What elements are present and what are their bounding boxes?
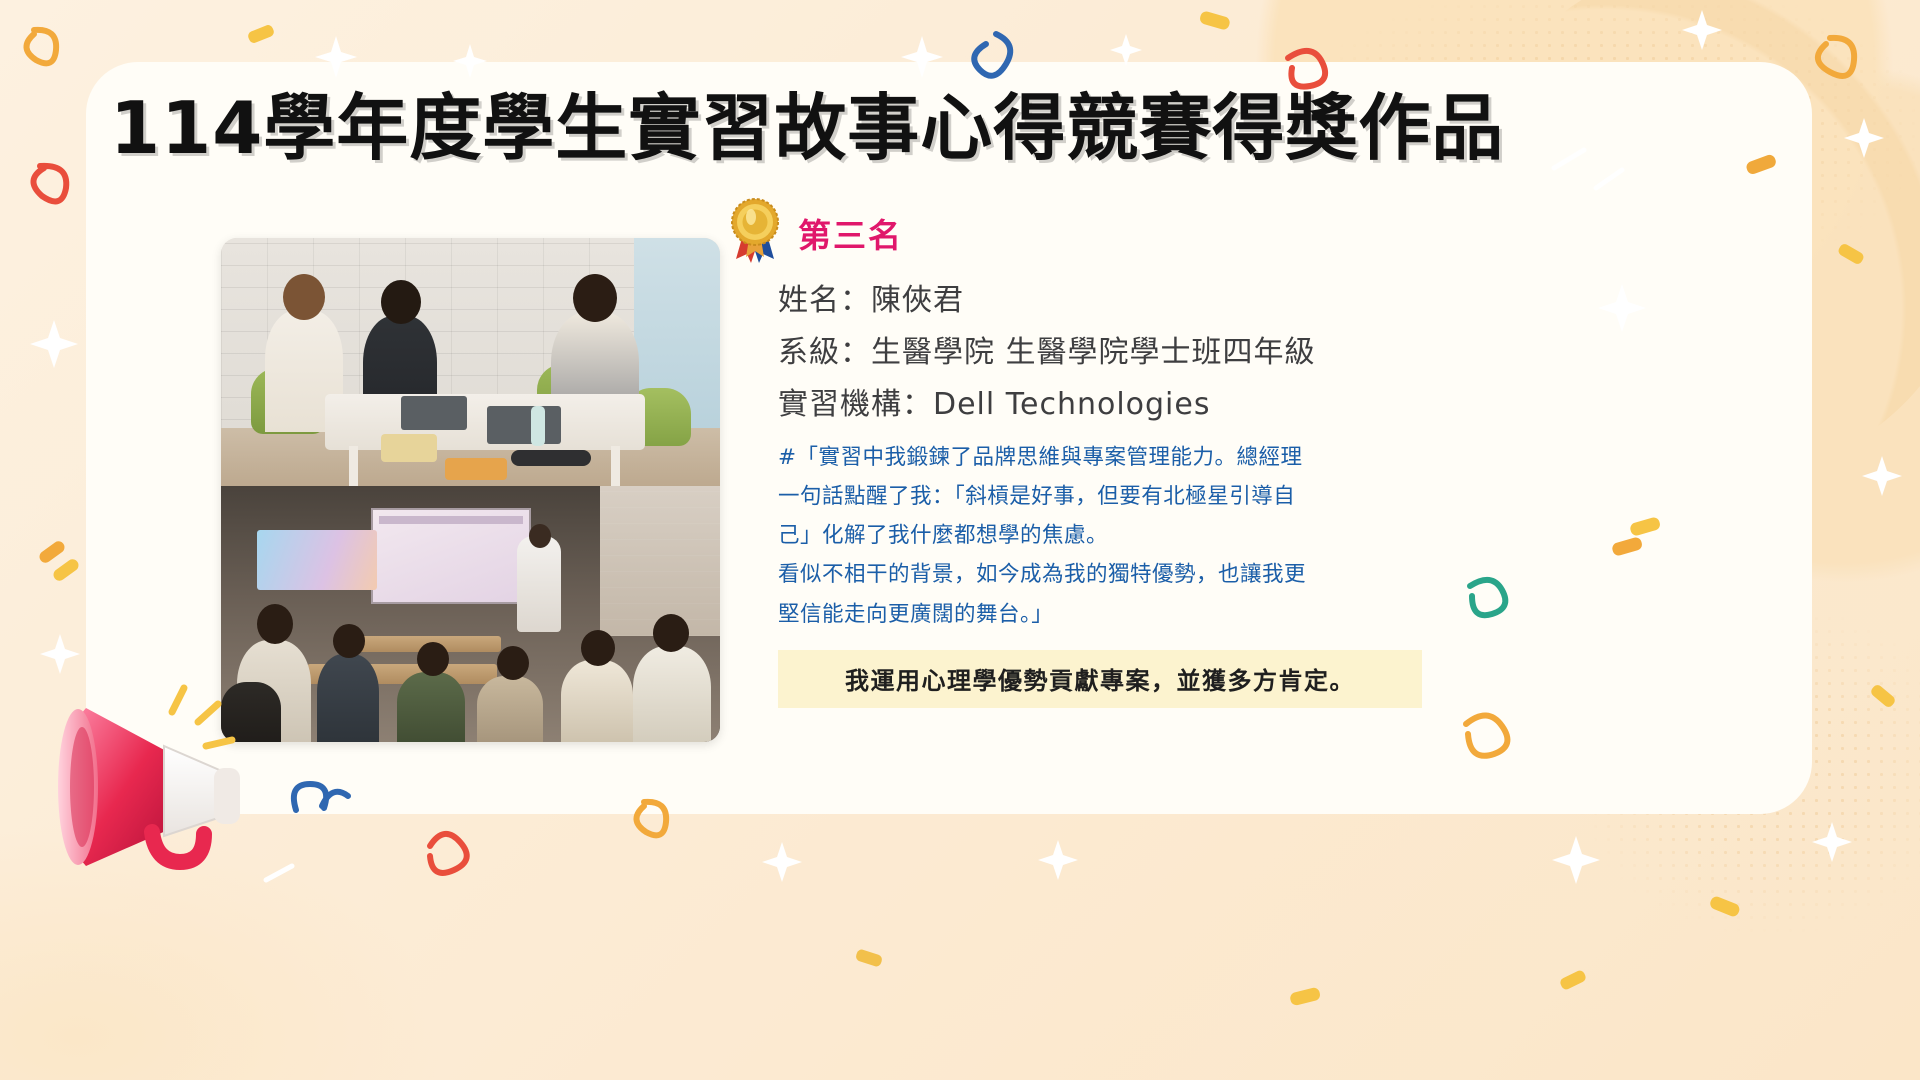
quote-line: 堅信能走向更廣闊的舞台。」	[778, 595, 1438, 634]
student-name: 姓名：陳俠君	[778, 286, 1438, 316]
quote-line: 看似不相干的背景，如今成為我的獨特優勢，也讓我更	[778, 555, 1438, 594]
internship-organization: 實習機構：Dell Technologies	[778, 390, 1438, 420]
photo-meeting-discussion	[221, 238, 720, 486]
quote-line: 己」化解了我什麼都想學的焦慮。	[778, 516, 1438, 555]
award-info-panel: 第三名 姓名：陳俠君 系級：生醫學院 生醫學院學士班四年級 實習機構：Dell …	[778, 196, 1438, 708]
rank-row: 第三名	[726, 196, 1438, 270]
quote-line: 一句話點醒了我：「斜槓是好事，但要有北極星引導自	[778, 477, 1438, 516]
page-title: 114學年度學生實習故事心得競賽得獎作品	[110, 92, 1504, 164]
rank-label: 第三名	[798, 209, 903, 257]
student-department: 系級：生醫學院 生醫學院學士班四年級	[778, 338, 1438, 368]
gold-medal-icon	[726, 197, 784, 269]
megaphone-icon	[56, 660, 296, 880]
highlight-banner: 我運用心理學優勢貢獻專案，並獲多方肯定。	[778, 650, 1422, 708]
student-quote: #「實習中我鍛鍊了品牌思維與專案管理能力。總經理 一句話點醒了我：「斜槓是好事，…	[778, 438, 1438, 634]
quote-line: #「實習中我鍛鍊了品牌思維與專案管理能力。總經理	[778, 438, 1438, 477]
